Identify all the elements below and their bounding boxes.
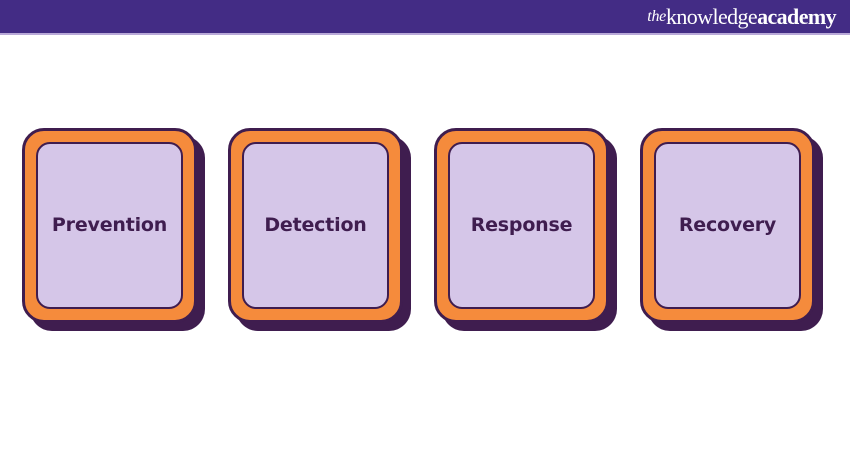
stage-card-prevention[interactable]: Prevention	[22, 128, 197, 323]
card-orange-ring: Response	[434, 128, 609, 323]
stage-card-recovery[interactable]: Recovery	[640, 128, 815, 323]
card-face: Prevention	[36, 142, 183, 309]
card-orange-ring: Prevention	[22, 128, 197, 323]
stage-card-row: Prevention Detection Response Recovery	[0, 0, 850, 450]
card-face: Detection	[242, 142, 389, 309]
stage-card-label: Recovery	[679, 214, 776, 237]
stage-card-label: Prevention	[52, 214, 167, 237]
stage-card-label: Detection	[264, 214, 366, 237]
card-face: Recovery	[654, 142, 801, 309]
card-orange-ring: Recovery	[640, 128, 815, 323]
stage-card-response[interactable]: Response	[434, 128, 609, 323]
card-orange-ring: Detection	[228, 128, 403, 323]
stage-card-label: Response	[471, 214, 573, 237]
stage-card-detection[interactable]: Detection	[228, 128, 403, 323]
card-face: Response	[448, 142, 595, 309]
